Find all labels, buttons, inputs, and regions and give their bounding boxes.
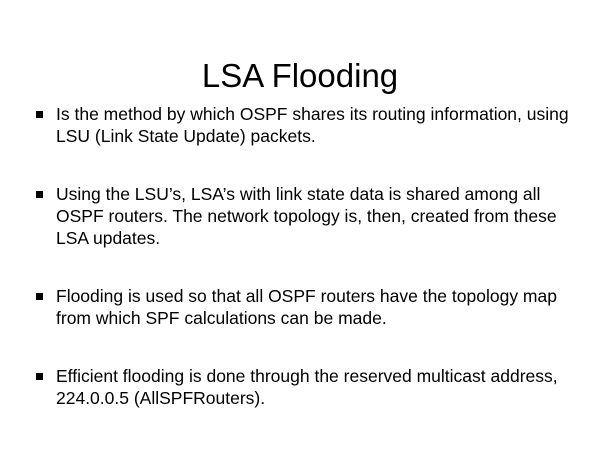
square-bullet-icon xyxy=(36,293,43,300)
page-title: LSA Flooding xyxy=(0,56,600,96)
list-item-text: Using the LSU’s, LSA’s with link state d… xyxy=(56,183,575,249)
list-item-text: Efficient flooding is done through the r… xyxy=(56,365,575,409)
square-bullet-icon xyxy=(36,111,43,118)
bullet-list: Is the method by which OSPF shares its r… xyxy=(30,103,575,409)
square-bullet-icon xyxy=(36,191,43,198)
list-item: Using the LSU’s, LSA’s with link state d… xyxy=(30,183,575,249)
list-item-text: Flooding is used so that all OSPF router… xyxy=(56,285,575,329)
list-item-text: Is the method by which OSPF shares its r… xyxy=(56,103,575,147)
presentation-slide: LSA Flooding Is the method by which OSPF… xyxy=(0,0,600,450)
square-bullet-icon xyxy=(36,373,43,380)
list-item: Is the method by which OSPF shares its r… xyxy=(30,103,575,147)
list-item: Efficient flooding is done through the r… xyxy=(30,365,575,409)
list-item: Flooding is used so that all OSPF router… xyxy=(30,285,575,329)
